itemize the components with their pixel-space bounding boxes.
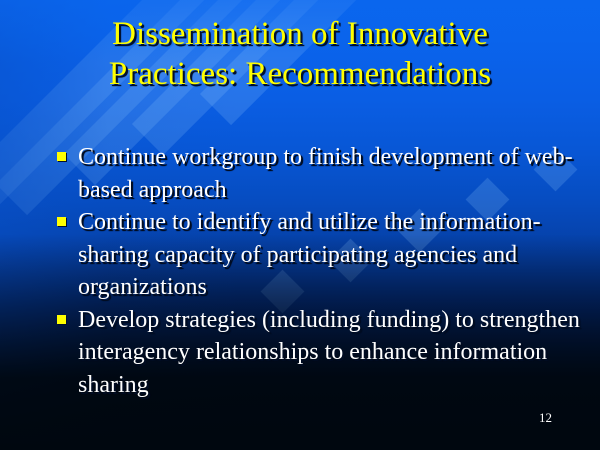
- square-bullet-icon: [57, 217, 66, 226]
- slide-body: Continue workgroup to finish development…: [52, 141, 582, 401]
- slide-title-line-1: Dissemination of Innovative: [0, 14, 600, 54]
- bullet-item: Continue workgroup to finish development…: [52, 141, 582, 206]
- presentation-slide: Dissemination of Innovative Practices: R…: [0, 0, 600, 450]
- square-bullet-icon: [57, 315, 66, 324]
- slide-title-line-2: Practices: Recommendations: [0, 54, 600, 94]
- bullet-item: Continue to identify and utilize the inf…: [52, 206, 582, 304]
- bullet-item-text: Continue workgroup to finish development…: [78, 141, 582, 206]
- bullet-item: Develop strategies (including funding) t…: [52, 304, 582, 402]
- square-bullet-icon: [57, 152, 66, 161]
- bullet-item-text: Develop strategies (including funding) t…: [78, 304, 582, 402]
- slide-title: Dissemination of Innovative Practices: R…: [0, 14, 600, 94]
- bullet-item-text: Continue to identify and utilize the inf…: [78, 206, 582, 304]
- slide-page-number: 12: [539, 411, 552, 424]
